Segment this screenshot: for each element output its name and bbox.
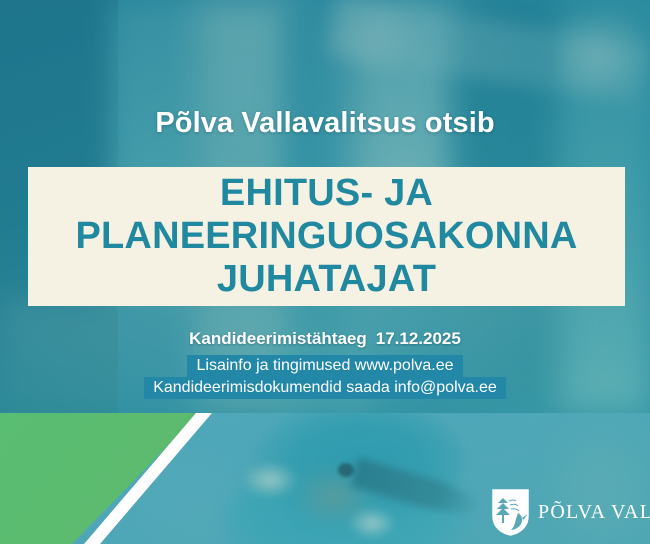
job-title-line-2: PLANEERINGUOSAKONNA — [28, 215, 625, 258]
logo-wordmark: PÕLVA VALD — [538, 501, 650, 524]
recruitment-poster: Põlva Vallavalitsus otsib EHITUS- JA PLA… — [0, 0, 650, 544]
polva-vald-logo: PÕLVA VALD — [492, 489, 650, 536]
coat-of-arms-icon — [492, 489, 529, 536]
application-deadline: Kandideerimistähtaeg17.12.2025 — [0, 329, 650, 349]
job-title-box: EHITUS- JA PLANEERINGUOSAKONNA JUHATAJAT — [28, 167, 625, 306]
deadline-date: 17.12.2025 — [376, 329, 461, 348]
contact-line-email: Kandideerimisdokumendid saada info@polva… — [144, 377, 506, 399]
contact-line-website: Lisainfo ja tingimused www.polva.ee — [187, 355, 462, 377]
job-title: EHITUS- JA PLANEERINGUOSAKONNA JUHATAJAT — [28, 172, 625, 301]
contact-row-1: Lisainfo ja tingimused www.polva.ee — [0, 355, 650, 377]
page-headline: Põlva Vallavalitsus otsib — [0, 107, 650, 140]
job-title-line-3: JUHATAJAT — [28, 258, 625, 301]
deadline-label: Kandideerimistähtaeg — [189, 329, 367, 348]
job-title-line-1: EHITUS- JA — [28, 172, 625, 215]
contact-info: Lisainfo ja tingimused www.polva.ee Kand… — [0, 355, 650, 399]
contact-row-2: Kandideerimisdokumendid saada info@polva… — [0, 377, 650, 399]
